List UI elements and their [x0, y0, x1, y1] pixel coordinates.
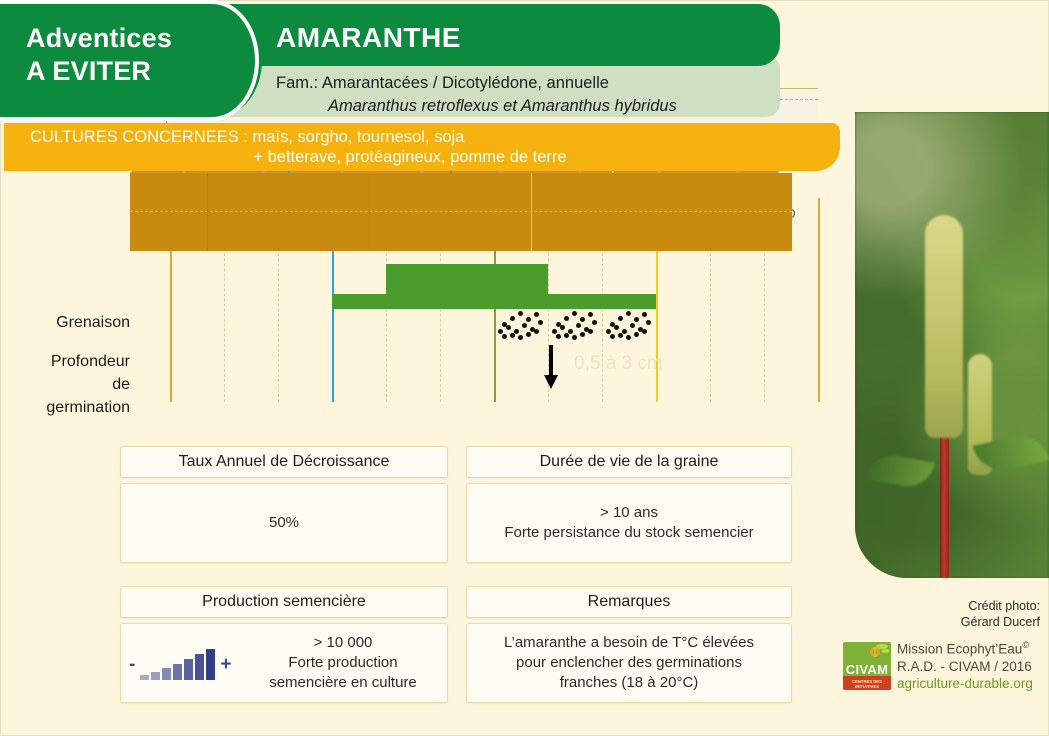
box-line: > 10 ans [504, 503, 753, 523]
seed-dot [610, 334, 615, 339]
photo-stem [940, 420, 949, 578]
seed-dot [614, 325, 619, 330]
ramp-bar-6 [195, 654, 204, 680]
seed-dot [564, 333, 569, 338]
box-line: 50% [269, 513, 299, 533]
latin-name: Amaranthus retroflexus et Amaranthus hyb… [276, 95, 677, 117]
seed-dot [580, 317, 585, 322]
credit-line-1: Crédit photo: [880, 598, 1040, 614]
seed-dot [510, 333, 515, 338]
sprout-icon [869, 643, 889, 661]
seed-dot [534, 329, 539, 334]
seed-cluster-A-1 [550, 308, 600, 338]
logo-line-1: Mission Ecophyt’Eau© [897, 640, 1047, 658]
seed-dot [560, 325, 565, 330]
seed-dot [506, 325, 511, 330]
seed-dot [502, 334, 507, 339]
seed-dot [518, 335, 523, 340]
ramp-bar-1 [140, 675, 149, 680]
seed-dot [518, 311, 523, 316]
seed-dot [552, 329, 557, 334]
seed-dot [572, 311, 577, 316]
seed-dot [534, 312, 539, 317]
seed-dot [572, 335, 577, 340]
ramp-bars-icon: - + [129, 646, 237, 680]
cultures-banner: CULTURES CONCERNEES : maïs, sorgho, tour… [4, 123, 840, 171]
seed-dot [526, 317, 531, 322]
infographic-page: Adventices A EVITER AMARANTHE Fam.: Amar… [0, 0, 1049, 736]
plant-family-info: Fam.: Amarantacées / Dicotylédone, annue… [276, 72, 677, 118]
photo-credit: Crédit photo: Gérard Ducerf [880, 598, 1040, 631]
logo-text-block: Mission Ecophyt’Eau© R.A.D. - CIVAM / 20… [897, 640, 1047, 692]
box-line: L’amaranthe a besoin de T°C élevées [504, 633, 754, 653]
box-title: Durée de vie de la graine [466, 446, 792, 478]
depth-value: 0,5 à 3 cm [574, 353, 663, 375]
seed-dot [606, 329, 611, 334]
seed-dot [588, 329, 593, 334]
soil-depth-block [130, 173, 792, 251]
gridline-13 [818, 198, 820, 402]
plus-sign: + [220, 655, 231, 680]
box-body: > 10 ans Forte persistance du stock seme… [466, 483, 792, 563]
soil-vline-ete [531, 173, 532, 251]
depth-arrow-icon [544, 345, 558, 389]
seed-dot [626, 311, 631, 316]
soil-vline-hiver [207, 173, 208, 251]
seed-dot [634, 332, 639, 337]
box-title: Remarques [466, 586, 792, 618]
seed-dot [618, 316, 623, 321]
soil-vline-printemps [369, 173, 370, 251]
seed-dot [646, 320, 651, 325]
box-line: pour enclencher des germinations [504, 653, 754, 673]
header: Adventices A EVITER AMARANTHE Fam.: Amar… [0, 0, 845, 120]
seed-dot [568, 329, 573, 334]
plant-photo [855, 112, 1049, 578]
seed-dot [538, 320, 543, 325]
box-body: - + > 10 000 Forte production semencière… [120, 623, 448, 703]
badge-line-2: A EVITER [26, 55, 246, 88]
ramp-bar-set [140, 649, 215, 680]
seed-dot [556, 334, 561, 339]
seed-dot [618, 333, 623, 338]
seed-dot [642, 329, 647, 334]
arrow-shaft [549, 345, 553, 378]
profondeur-label: Profondeur de germination [12, 350, 130, 420]
box-title: Production semencière [120, 586, 448, 618]
seed-dot [642, 312, 647, 317]
box-remarques: Remarques L’amaranthe a besoin de T°C él… [466, 586, 792, 703]
badge-line-1: Adventices [26, 22, 246, 55]
seed-dot [580, 332, 585, 337]
civam-tagline: CENTRES DES INITIATIVES [843, 679, 891, 690]
seed-dot [588, 312, 593, 317]
page-title: AMARANTHE [276, 22, 461, 54]
ramp-bar-5 [184, 659, 193, 680]
box-body: 50% [120, 483, 448, 563]
copyright-icon: © [1022, 640, 1029, 650]
mission-name: Mission Ecophyt’Eau [897, 642, 1022, 657]
civam-logo: CIVAM CENTRES DES INITIATIVES [843, 642, 891, 690]
civam-wordmark: CIVAM [843, 662, 891, 677]
civam-tagline-2: INITIATIVES [843, 684, 891, 689]
box-title: Taux Annuel de Décroissance [120, 446, 448, 478]
seed-dot [630, 323, 635, 328]
box-duree-vie: Durée de vie de la graine > 10 ans Forte… [466, 446, 792, 563]
box-line: Forte persistance du stock semencier [504, 523, 753, 543]
seed-dot [522, 323, 527, 328]
seed-dot [564, 316, 569, 321]
header-badge-text: Adventices A EVITER [26, 22, 246, 88]
grenaison-label: Grenaison [20, 314, 130, 332]
cultures-line-1: CULTURES CONCERNEES : maïs, sorgho, tour… [30, 127, 464, 148]
logo-website[interactable]: agriculture-durable.org [897, 675, 1047, 692]
seed-dot [622, 329, 627, 334]
profondeur-line-2: de [12, 373, 130, 396]
seed-dot [626, 335, 631, 340]
soil-depth-dashline [130, 211, 792, 212]
profondeur-line-3: germination [12, 396, 130, 419]
levee-bar-high [386, 264, 548, 309]
cultures-line-2: + betterave, protéagineux, pomme de terr… [30, 147, 790, 168]
arrow-head [544, 375, 558, 389]
seed-dot [498, 329, 503, 334]
ramp-bar-2 [151, 672, 160, 680]
seed-dot [576, 323, 581, 328]
family-text: Fam.: Amarantacées / Dicotylédone, annue… [276, 74, 609, 92]
box-production-semenciere: Production semencière - + > 10 000 Forte… [120, 586, 448, 703]
seed-cluster-J-0 [496, 308, 546, 338]
box-line: franches (18 à 20°C) [504, 673, 754, 693]
ramp-bar-7 [206, 649, 215, 680]
seed-dot [514, 329, 519, 334]
ramp-bar-3 [162, 668, 171, 680]
box-line: Forte production [239, 653, 447, 673]
box-line: semencière en culture [239, 673, 447, 693]
box-taux-annuel: Taux Annuel de Décroissance 50% [120, 446, 448, 563]
box-body: L’amaranthe a besoin de T°C élevées pour… [466, 623, 792, 703]
seed-dot [510, 316, 515, 321]
seed-dot [634, 317, 639, 322]
seed-dot [526, 332, 531, 337]
seed-dot [592, 320, 597, 325]
box-text: > 10 000 Forte production semencière en … [239, 633, 447, 694]
box-line: > 10 000 [239, 633, 447, 653]
credit-line-2: Gérard Ducerf [880, 614, 1040, 630]
logo-line-2: R.A.D. - CIVAM / 2016 [897, 658, 1047, 675]
photo-flower-spike [925, 215, 963, 439]
profondeur-line-1: Profondeur [12, 350, 130, 373]
ramp-bar-4 [173, 664, 182, 680]
seed-cluster-S-2 [604, 308, 654, 338]
footer-logo-row: CIVAM CENTRES DES INITIATIVES Mission Ec… [843, 640, 1043, 695]
minus-sign: - [129, 655, 135, 680]
